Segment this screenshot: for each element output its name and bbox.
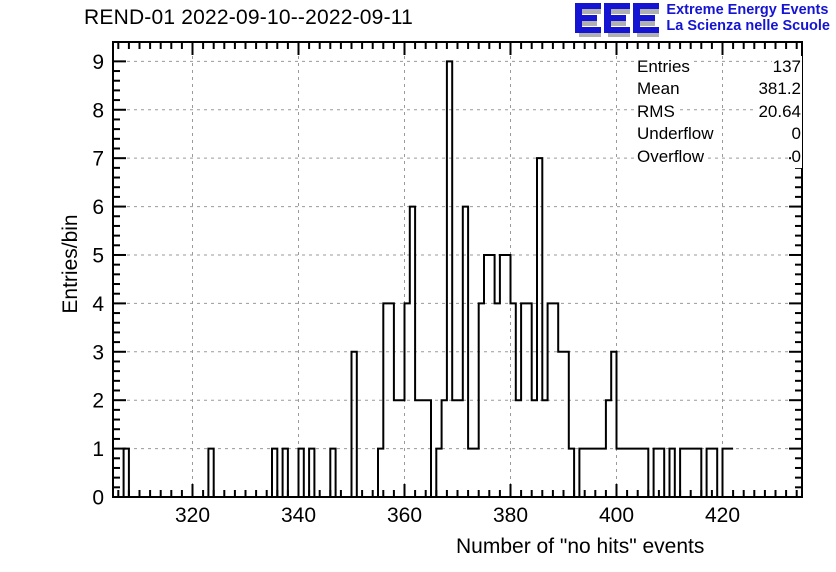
svg-text:6: 6 <box>92 196 104 219</box>
svg-text:400: 400 <box>599 504 634 527</box>
stats-entries-value: 137 <box>772 56 802 78</box>
svg-text:4: 4 <box>92 293 104 316</box>
svg-text:0: 0 <box>92 487 104 510</box>
svg-text:320: 320 <box>175 504 210 527</box>
stats-entries: Entries137 <box>636 56 802 78</box>
svg-text:5: 5 <box>92 244 104 267</box>
stats-mean: Mean381.2 <box>636 78 802 100</box>
svg-text:3: 3 <box>92 341 104 364</box>
stats-mean-value: 381.2 <box>757 78 802 100</box>
svg-text:1: 1 <box>92 438 104 461</box>
svg-text:360: 360 <box>387 504 422 527</box>
stats-underflow: Underflow0 <box>636 123 802 145</box>
svg-text:380: 380 <box>493 504 528 527</box>
svg-text:8: 8 <box>92 99 104 122</box>
svg-text:2: 2 <box>92 390 104 413</box>
stats-mean-label: Mean <box>636 78 681 100</box>
svg-text:9: 9 <box>92 51 104 74</box>
stats-underflow-value: 0 <box>791 123 802 145</box>
svg-text:7: 7 <box>92 148 104 171</box>
stats-entries-label: Entries <box>636 56 691 78</box>
root-canvas: REND-01 2022-09-10--2022-09-11 Extreme E… <box>0 0 836 572</box>
stats-overflow-value: 0 <box>791 146 802 168</box>
stats-underflow-label: Underflow <box>636 123 715 145</box>
x-axis-title: Number of "no hits" events <box>456 535 704 559</box>
svg-text:420: 420 <box>705 504 740 527</box>
y-axis-title: Entries/bin <box>59 179 83 349</box>
stats-rms-value: 20.64 <box>757 101 802 123</box>
stats-overflow-label: Overflow <box>636 146 705 168</box>
stats-box: Entries137 Mean381.2 RMS20.64 Underflow0… <box>636 56 802 168</box>
stats-rms-label: RMS <box>636 101 676 123</box>
stats-rms: RMS20.64 <box>636 101 802 123</box>
stats-overflow: Overflow0 <box>636 146 802 168</box>
svg-text:340: 340 <box>281 504 316 527</box>
